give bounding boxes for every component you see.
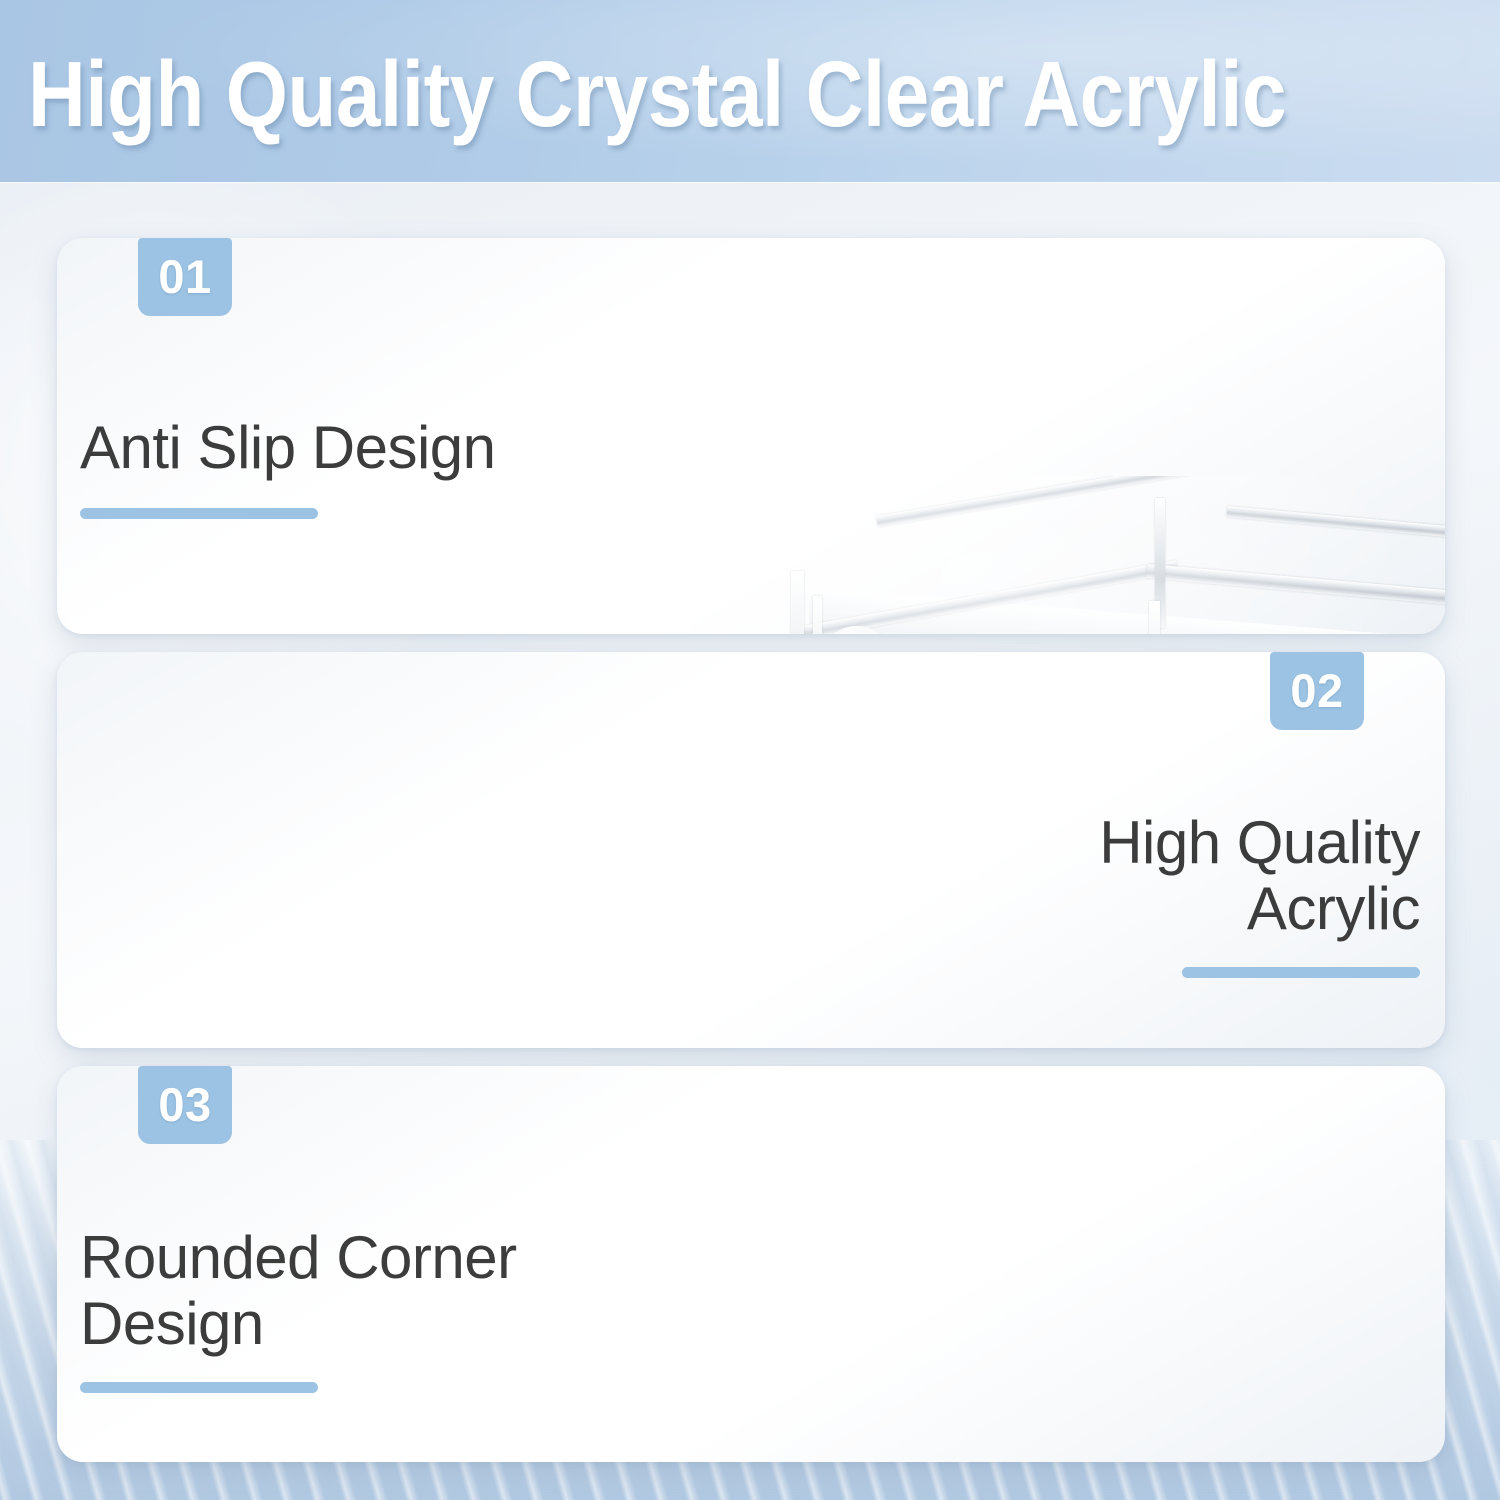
acrylic-leg-left-inner: [813, 596, 822, 634]
infographic-page: High Quality Crystal Clear Acrylic 01 An…: [0, 0, 1500, 1500]
feature-badge-03: 03: [138, 1066, 232, 1144]
feature-underline-02: [1182, 967, 1420, 978]
header-banner: High Quality Crystal Clear Acrylic: [0, 0, 1500, 182]
acrylic-top-edge-right: [1227, 506, 1445, 575]
acrylic-leg-middle: [1149, 601, 1160, 634]
feature-title-02: High Quality Acrylic: [1099, 810, 1420, 942]
acrylic-shelf-edge-right: [1146, 564, 1445, 634]
feature-title-01: Anti Slip Design: [80, 415, 496, 481]
feature-underline-01: [80, 508, 318, 519]
acrylic-shelf-edge-left: [802, 560, 1178, 634]
feature-title-03: Rounded Corner Design: [80, 1225, 517, 1357]
acrylic-top-edge-back: [876, 476, 1430, 527]
feature-underline-03: [80, 1382, 318, 1393]
product-photo-anti-slip: [757, 476, 1445, 634]
page-title: High Quality Crystal Clear Acrylic: [28, 44, 1275, 144]
acrylic-back-post: [1155, 498, 1165, 628]
anti-slip-pad-icon: [819, 626, 895, 634]
acrylic-leg-left-outer: [791, 571, 804, 634]
feature-badge-01: 01: [138, 238, 232, 316]
acrylic-shelf-band: [809, 587, 1445, 634]
feature-badge-02: 02: [1270, 652, 1364, 730]
photo-sheen: [757, 476, 1445, 634]
